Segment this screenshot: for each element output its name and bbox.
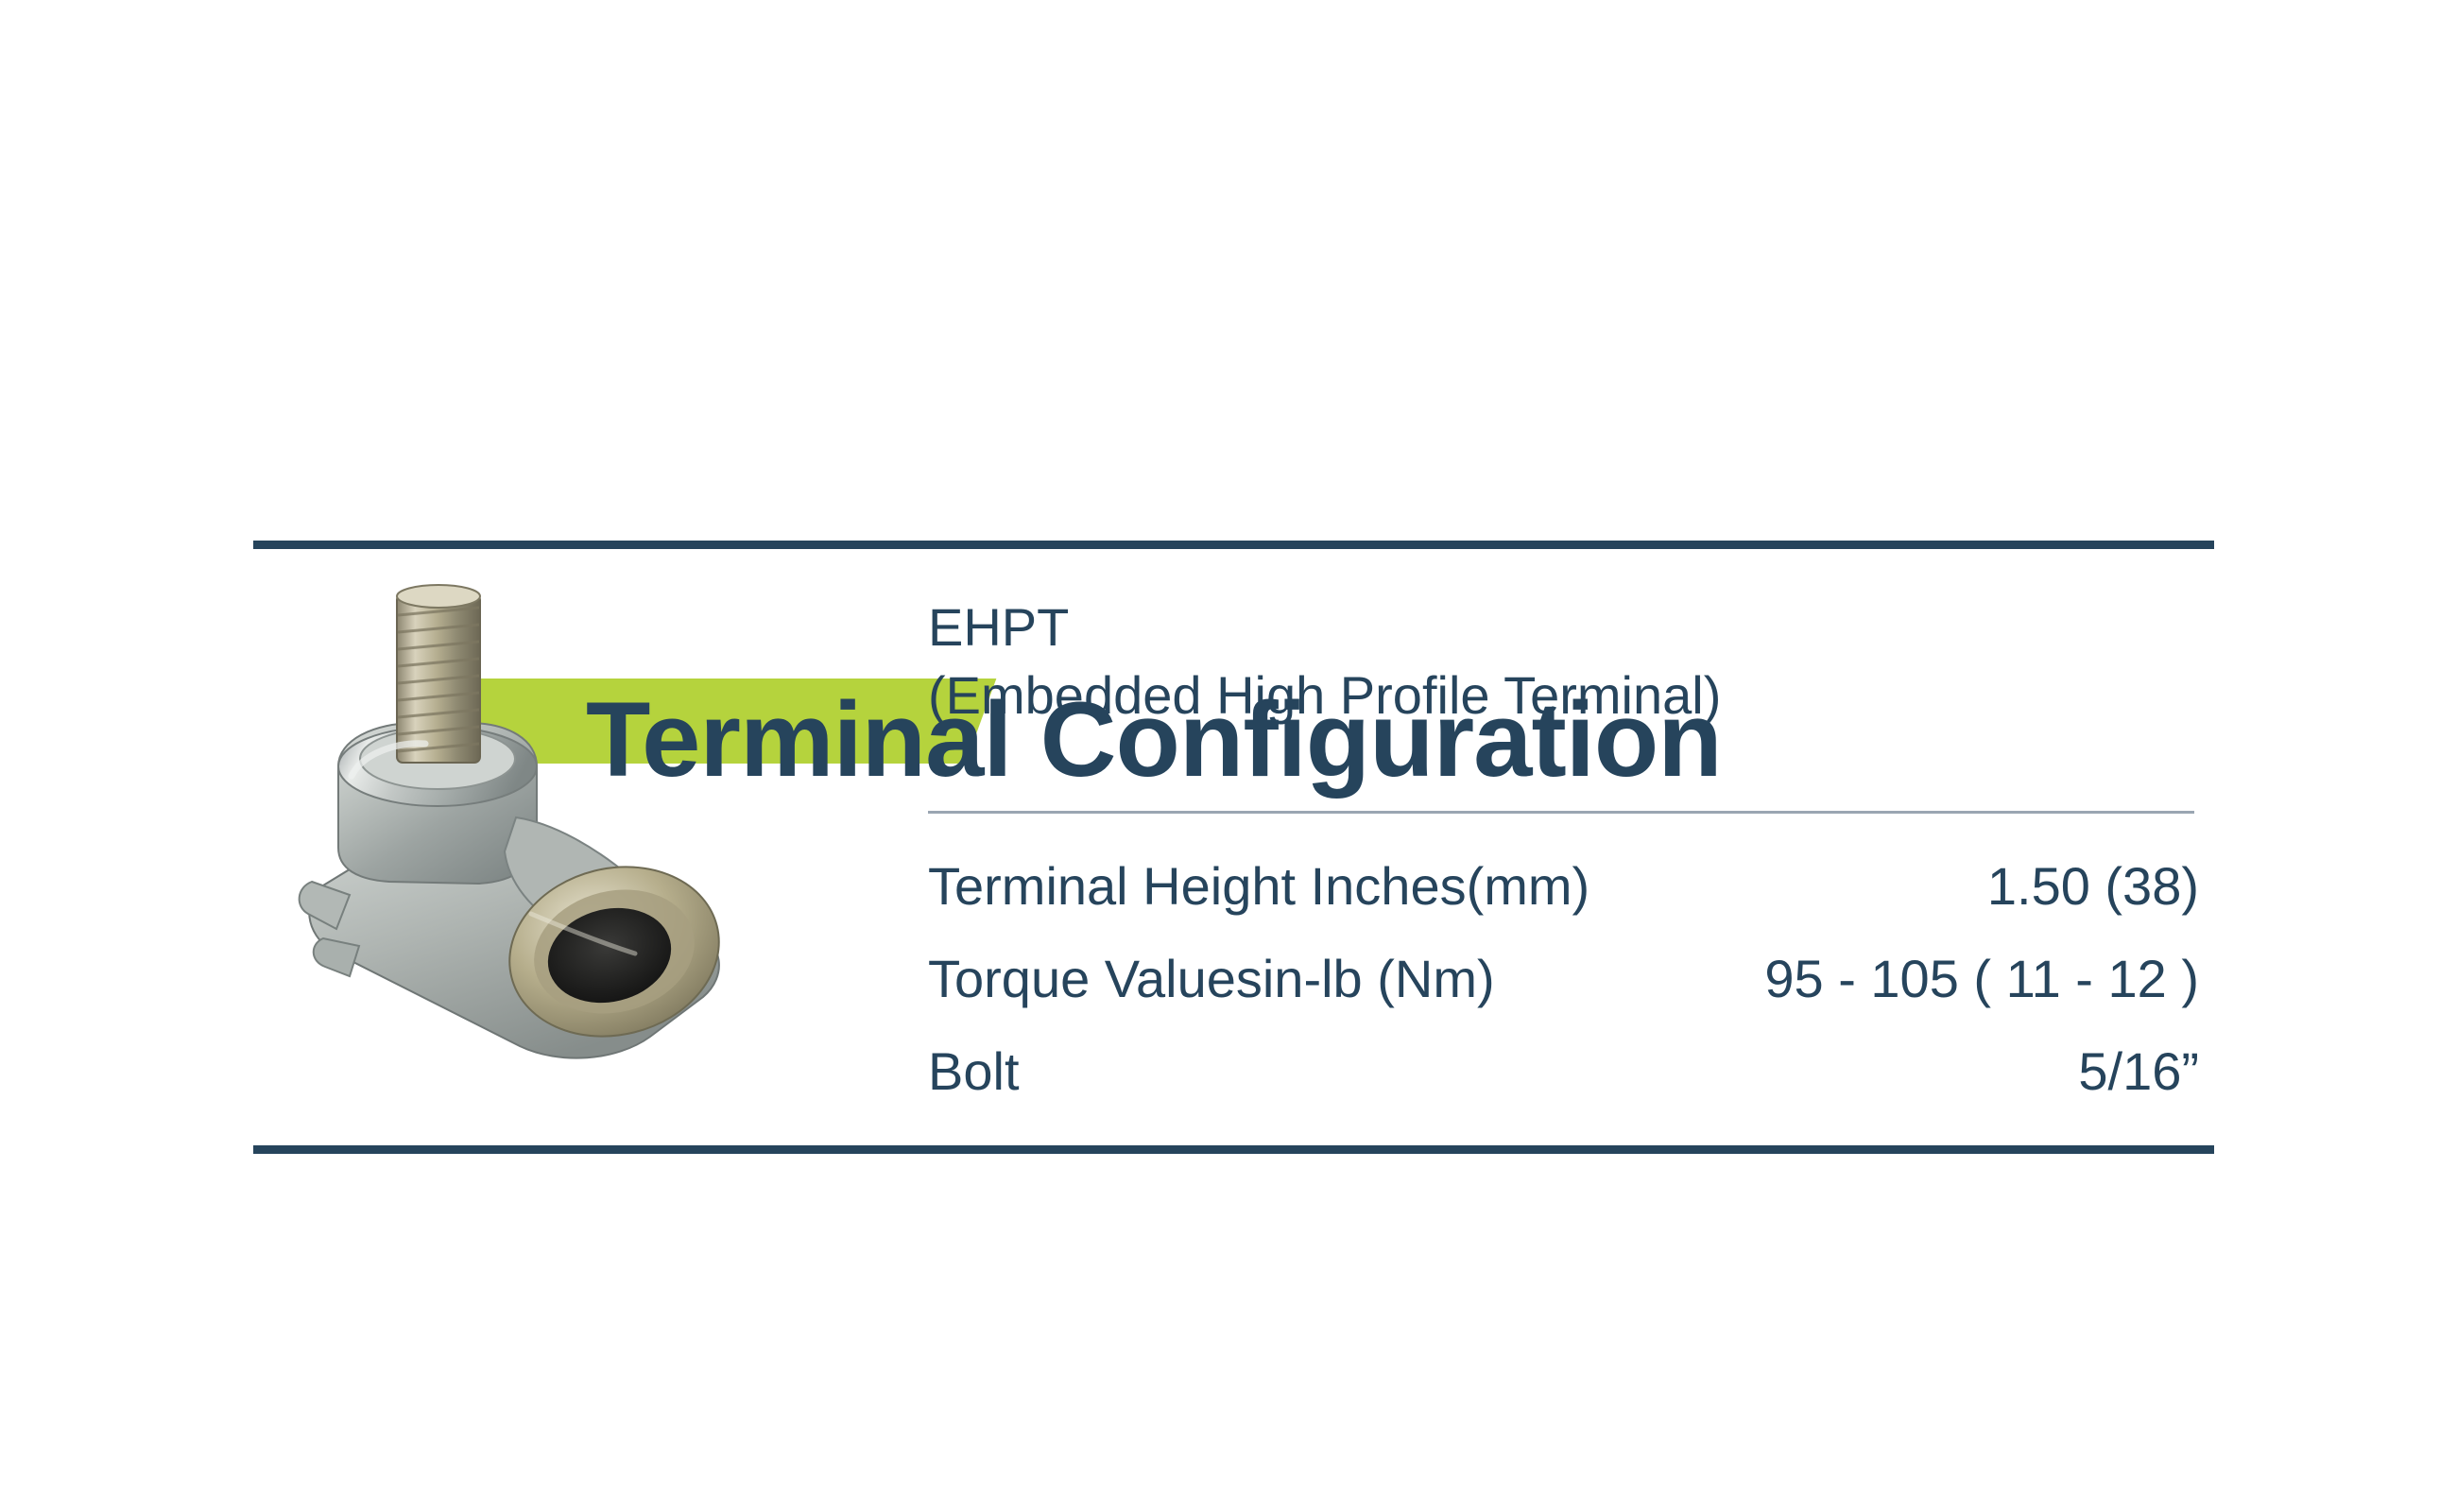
spec-value: 1.50 (38) xyxy=(1987,855,2199,917)
slide-canvas: Terminal Configuration xyxy=(0,0,2457,1512)
divider-thin xyxy=(928,811,2194,814)
table-row: Terminal Height Inches(mm) 1.50 (38) xyxy=(928,855,2199,948)
spec-label: Torque Valuesin-lb (Nm) xyxy=(928,948,1495,1009)
terminal-full-name: (Embedded High Profile Terminal) xyxy=(928,661,2194,730)
spec-label: Terminal Height Inches(mm) xyxy=(928,855,1589,917)
table-row: Bolt 5/16” xyxy=(928,1040,2199,1133)
title-area: Terminal Configuration xyxy=(0,326,2457,506)
divider-top xyxy=(253,541,2214,549)
terminal-photo-svg xyxy=(283,581,756,1073)
terminal-info: EHPT (Embedded High Profile Terminal) xyxy=(928,593,2194,729)
divider-bottom xyxy=(253,1145,2214,1154)
terminal-code: EHPT xyxy=(928,593,2194,661)
spec-label: Bolt xyxy=(928,1040,1020,1102)
table-row: Torque Valuesin-lb (Nm) 95 - 105 ( 11 - … xyxy=(928,948,2199,1040)
spec-value: 5/16” xyxy=(2078,1040,2199,1102)
spec-value: 95 - 105 ( 11 - 12 ) xyxy=(1764,948,2199,1009)
spec-table: Terminal Height Inches(mm) 1.50 (38) Tor… xyxy=(928,855,2199,1133)
terminal-photo xyxy=(283,581,756,1073)
